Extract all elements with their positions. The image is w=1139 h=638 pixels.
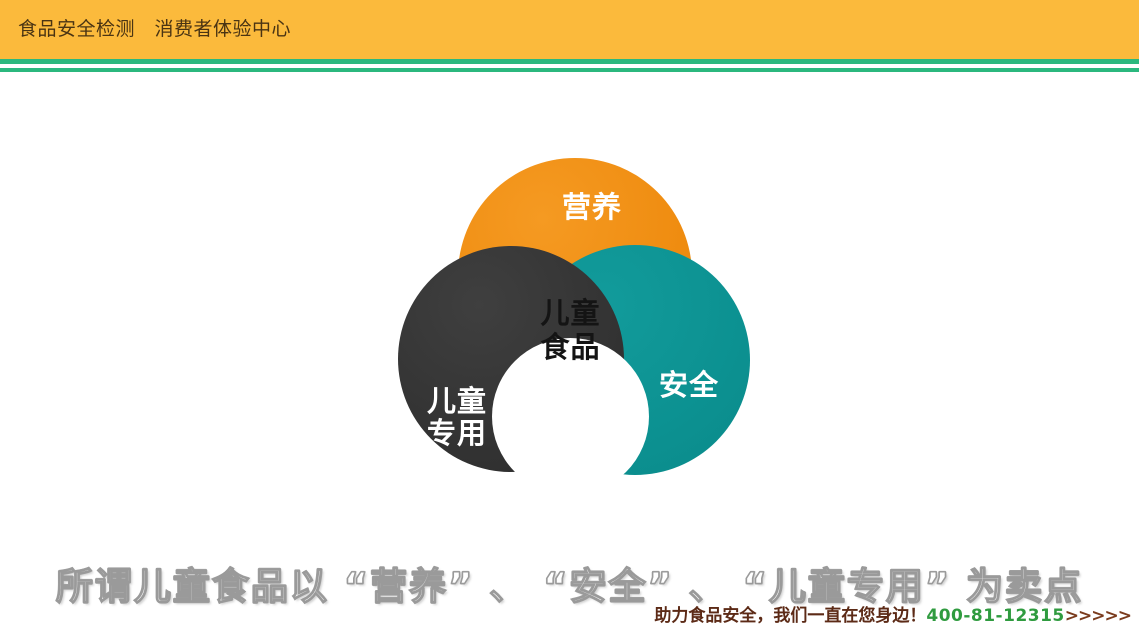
footer-slogan-text: 助力食品安全，我们一直在您身边！: [654, 606, 926, 626]
footer-slogan: 助力食品安全，我们一直在您身边！400-81-12315>>>>>: [654, 608, 1131, 625]
footer-arrows-icon: >>>>>: [1065, 606, 1131, 626]
venn-label-core: 儿童 食品: [492, 296, 649, 364]
venn-label-safety: 安全: [630, 369, 748, 401]
venn-label-nutrition: 营养: [527, 191, 657, 223]
headline-caption: 所谓儿童食品以 “营养” 、 “安全” 、 “儿童专用” 为卖点: [0, 556, 1139, 610]
header-stripe-group: [0, 56, 1139, 74]
venn-label-kids-exclusive: 儿童 专用: [398, 385, 516, 450]
venn-diagram: 营养 儿童 专用 安全 儿童 食品: [0, 74, 1139, 494]
stripe-green-lower: [0, 68, 1139, 72]
footer-hotline-number[interactable]: 400-81-12315: [926, 606, 1064, 626]
page-title: 食品安全检测 消费者体验中心: [18, 14, 291, 41]
header-bar: 食品安全检测 消费者体验中心: [0, 0, 1139, 56]
